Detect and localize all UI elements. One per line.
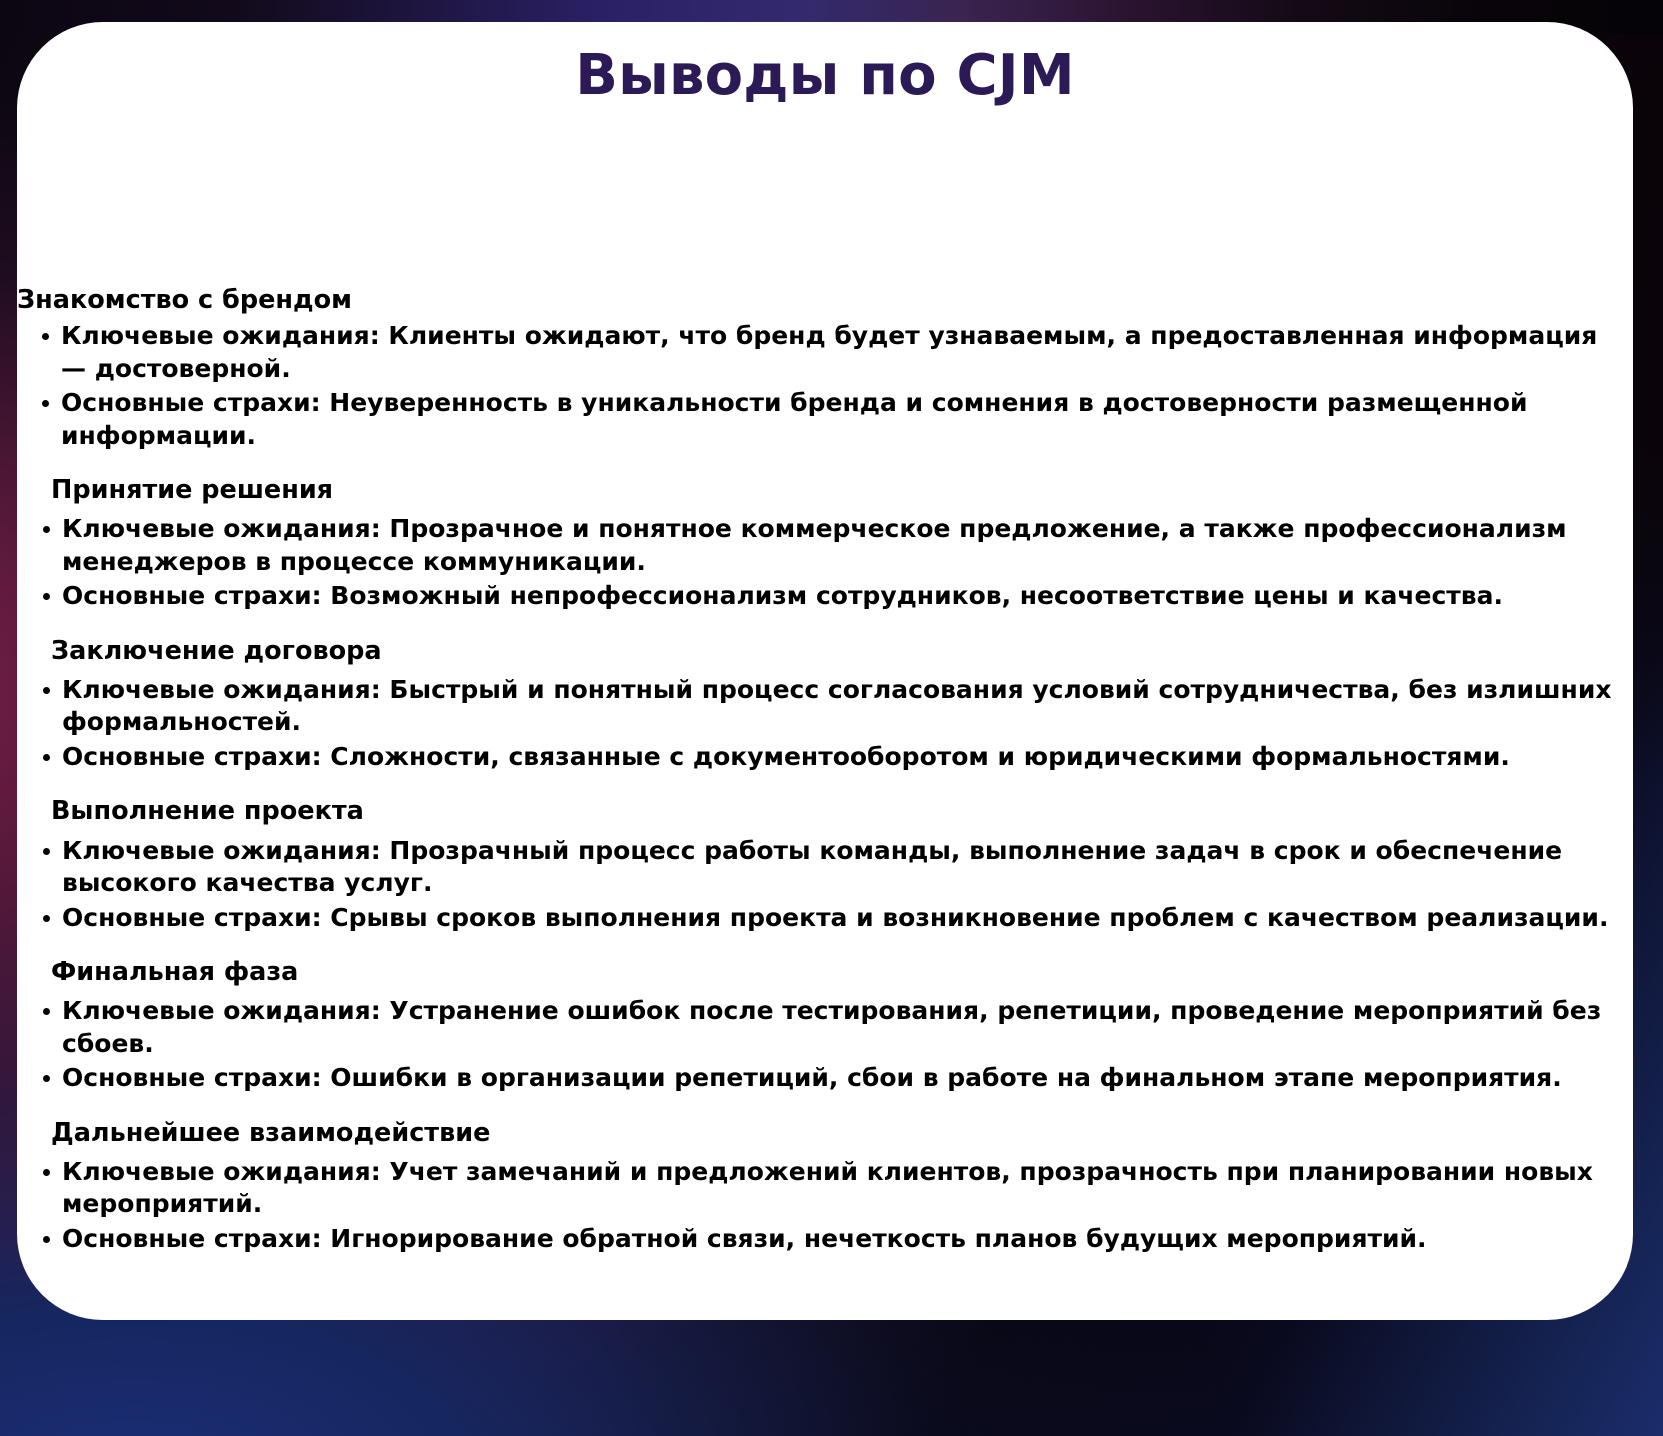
journey-stage-section: Финальная фазаКлючевые ожидания: Устране… xyxy=(17,956,1627,1095)
list-item: Ключевые ожидания: Учет замечаний и пред… xyxy=(17,1156,1627,1221)
stage-heading: Заключение договора xyxy=(17,635,1627,667)
journey-stage-section: Дальнейшее взаимодействиеКлючевые ожидан… xyxy=(17,1117,1627,1256)
list-item: Основные страхи: Сложности, связанные с … xyxy=(17,741,1627,774)
conclusions-list: Знакомство с брендомКлючевые ожидания: К… xyxy=(17,284,1633,1257)
journey-stage-section: Принятие решенияКлючевые ожидания: Прозр… xyxy=(17,474,1627,613)
stage-heading: Выполнение проекта xyxy=(17,795,1627,827)
list-item: Основные страхи: Возможный непрофессиона… xyxy=(17,580,1627,613)
slide-background: Выводы по CJM Знакомство с брендомКлючев… xyxy=(0,0,1663,1436)
list-item: Ключевые ожидания: Прозрачный процесс ра… xyxy=(17,835,1627,900)
stage-bullet-list: Ключевые ожидания: Прозрачное и понятное… xyxy=(17,513,1627,613)
list-item: Основные страхи: Ошибки в организации ре… xyxy=(17,1062,1627,1095)
list-item: Основные страхи: Неуверенность в уникаль… xyxy=(17,387,1627,452)
stage-bullet-list: Ключевые ожидания: Клиенты ожидают, что … xyxy=(17,320,1627,452)
stage-bullet-list: Ключевые ожидания: Прозрачный процесс ра… xyxy=(17,835,1627,935)
list-item: Основные страхи: Срывы сроков выполнения… xyxy=(17,902,1627,935)
list-item: Ключевые ожидания: Клиенты ожидают, что … xyxy=(17,320,1627,385)
stage-heading: Дальнейшее взаимодействие xyxy=(17,1117,1627,1149)
list-item: Ключевые ожидания: Быстрый и понятный пр… xyxy=(17,674,1627,739)
list-item: Ключевые ожидания: Прозрачное и понятное… xyxy=(17,513,1627,578)
stage-bullet-list: Ключевые ожидания: Устранение ошибок пос… xyxy=(17,995,1627,1095)
journey-stage-section: Знакомство с брендомКлючевые ожидания: К… xyxy=(17,284,1627,452)
stage-bullet-list: Ключевые ожидания: Быстрый и понятный пр… xyxy=(17,674,1627,774)
stage-heading: Знакомство с брендом xyxy=(17,284,1627,316)
stage-heading: Финальная фаза xyxy=(17,956,1627,988)
journey-stage-section: Заключение договораКлючевые ожидания: Бы… xyxy=(17,635,1627,774)
stage-bullet-list: Ключевые ожидания: Учет замечаний и пред… xyxy=(17,1156,1627,1256)
journey-stage-section: Выполнение проектаКлючевые ожидания: Про… xyxy=(17,795,1627,934)
stage-heading: Принятие решения xyxy=(17,474,1627,506)
list-item: Ключевые ожидания: Устранение ошибок пос… xyxy=(17,995,1627,1060)
page-title: Выводы по CJM xyxy=(17,44,1633,108)
slide-card: Выводы по CJM Знакомство с брендомКлючев… xyxy=(17,22,1633,1320)
list-item: Основные страхи: Игнорирование обратной … xyxy=(17,1223,1627,1256)
